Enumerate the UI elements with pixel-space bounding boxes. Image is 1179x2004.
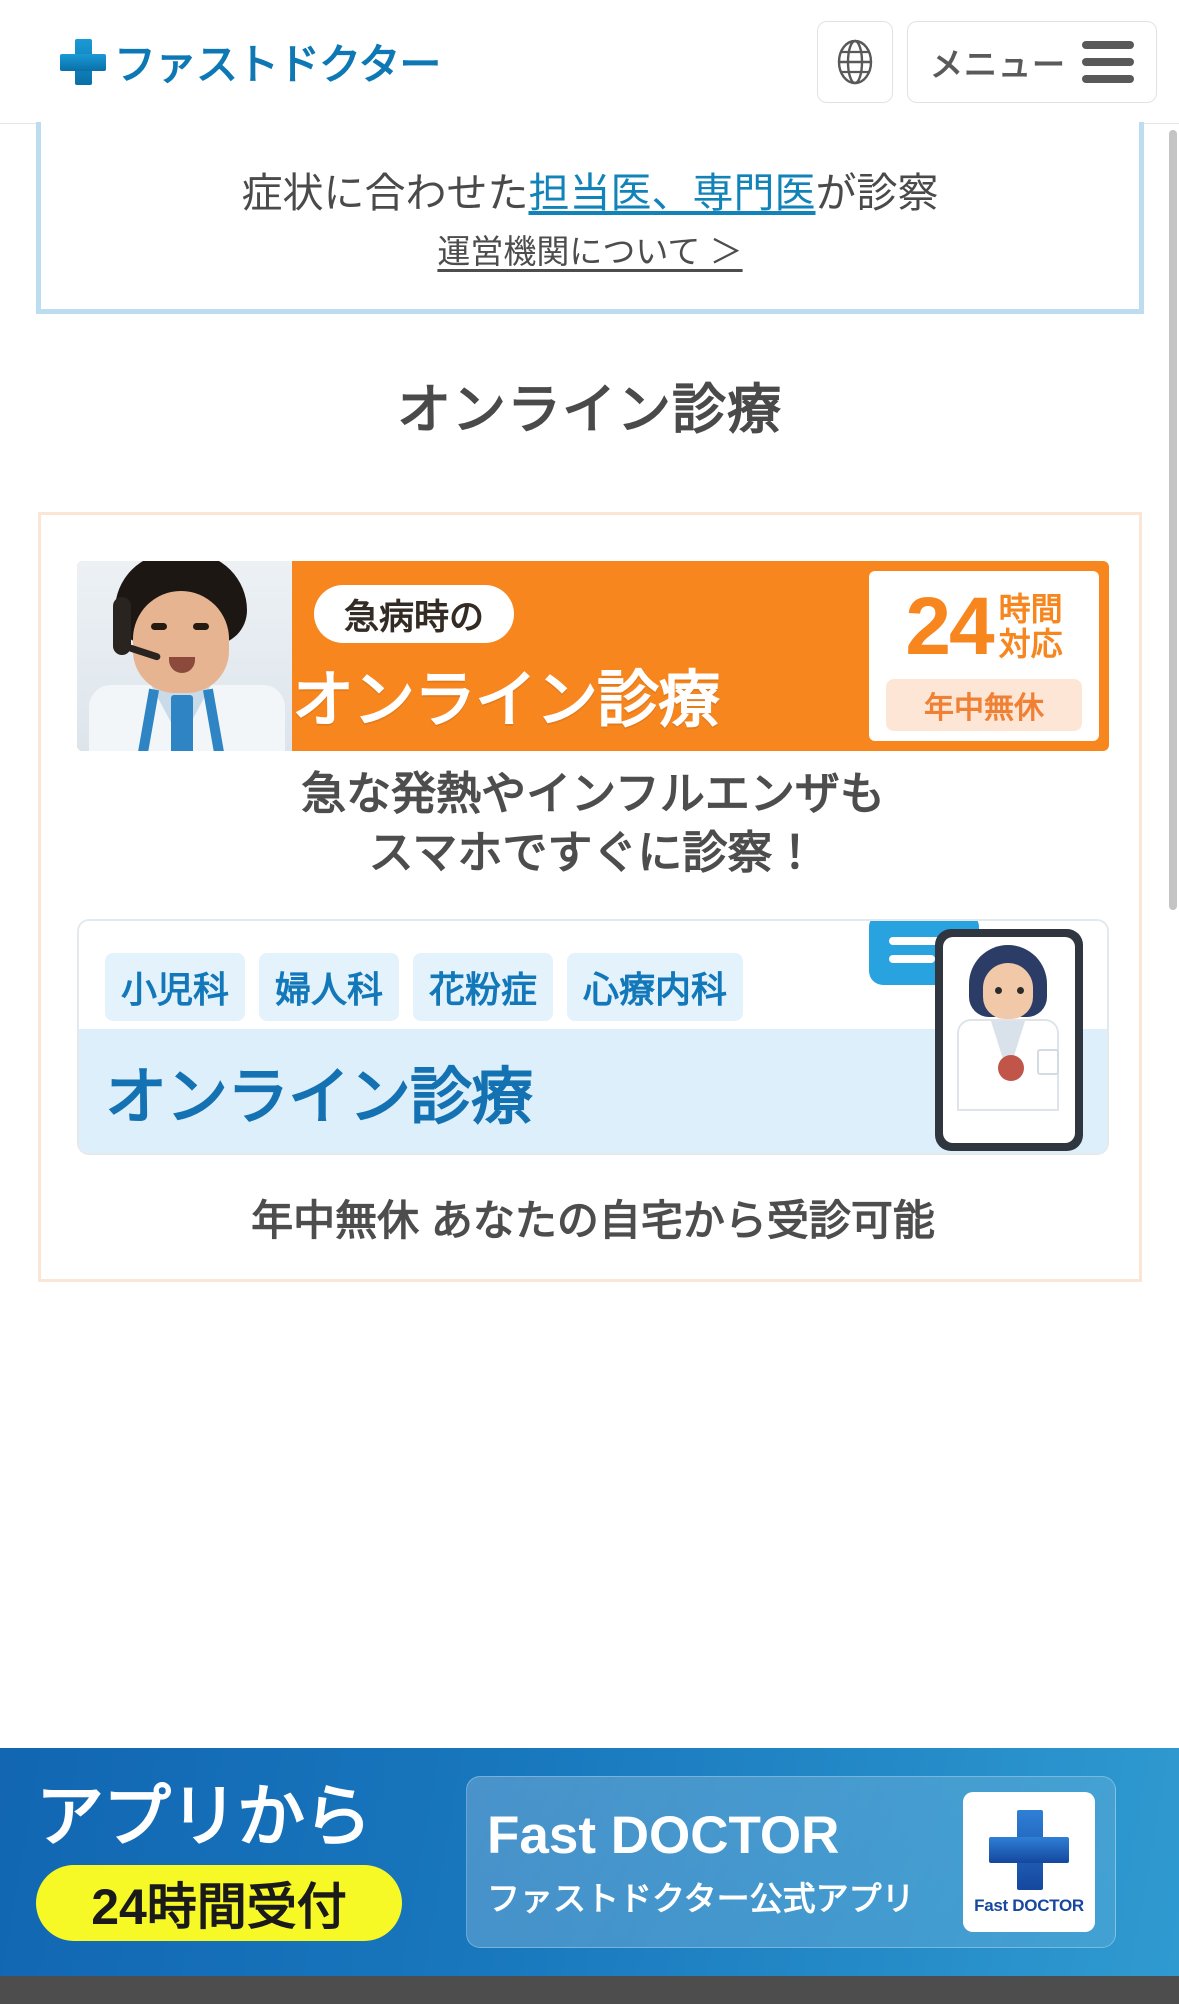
plus-cross-icon: [987, 1808, 1071, 1892]
page-root: ファストドクター メニュー 症状に合わせた担当医、専門医が診察 運営機関について…: [0, 0, 1179, 2004]
promo-headline: 急な発熱やインフルエンザも スマホですぐに診察！: [41, 765, 1145, 882]
orange-promo-banner: 急病時の オンライン診療 24 時間 対応 年中無休: [77, 561, 1109, 751]
promo-footer-text: 年中無休 あなたの自宅から受診可能: [41, 1187, 1145, 1248]
menu-button[interactable]: メニュー: [907, 21, 1157, 103]
globe-icon: [832, 39, 878, 85]
banner-text-block: 急病時の オンライン診療: [292, 561, 892, 751]
badge-year-round-tag: 年中無休: [886, 679, 1082, 731]
badge-unit-line2: 対応: [999, 626, 1063, 662]
app-banner-pill: 24時間受付: [36, 1865, 402, 1941]
operator-info-link[interactable]: 運営機関について ＞: [437, 225, 742, 273]
brand-logo[interactable]: ファストドクター: [58, 31, 440, 92]
app-download-banner[interactable]: アプリから 24時間受付 Fast DOCTOR ファストドクター公式アプリ F…: [0, 1748, 1179, 1976]
browser-bottom-bar: [0, 1976, 1179, 2004]
promo-headline-line2: スマホですぐに診察！: [41, 824, 1145, 883]
badge-unit: 時間 対応: [999, 592, 1063, 661]
section-title: オンライン診療: [0, 365, 1179, 444]
info-prefix-text: 症状に合わせた: [242, 170, 529, 216]
badge-number: 24: [905, 586, 992, 668]
banner-main-title: オンライン診療: [292, 649, 892, 739]
info-line-primary: 症状に合わせた担当医、専門医が診察: [242, 159, 939, 219]
online-consultation-card[interactable]: 小児科 婦人科 花粉症 心療内科 オンライン診療: [77, 919, 1109, 1155]
card-title: オンライン診療: [105, 1046, 532, 1136]
doctor-with-headset-photo: [77, 561, 292, 751]
specialty-tag[interactable]: 小児科: [105, 953, 245, 1021]
app-name: Fast DOCTOR: [487, 1805, 945, 1866]
hamburger-icon: [1082, 41, 1134, 83]
brand-name: ファストドクター: [114, 31, 440, 92]
specialty-tag-row: 小児科 婦人科 花粉症 心療内科: [105, 953, 743, 1021]
emergency-pill-label: 急病時の: [314, 585, 514, 643]
specialty-tag[interactable]: 心療内科: [567, 953, 743, 1021]
app-subtitle: ファストドクター公式アプリ: [487, 1872, 945, 1920]
online-consultation-promo-card[interactable]: 急病時の オンライン診療 24 時間 対応 年中無休 急な発熱やインフルエンザも…: [38, 512, 1142, 1282]
page-scrollbar[interactable]: [1169, 130, 1177, 910]
language-button[interactable]: [817, 21, 893, 103]
menu-label: メニュー: [930, 38, 1066, 86]
app-banner-headline: アプリから: [36, 1783, 450, 1851]
specialty-tag[interactable]: 花粉症: [413, 953, 553, 1021]
promo-headline-line1: 急な発熱やインフルエンザも: [41, 765, 1145, 824]
app-logo: Fast DOCTOR: [963, 1792, 1095, 1932]
app-logo-text: Fast DOCTOR: [974, 1896, 1084, 1916]
app-banner-left: アプリから 24時間受付: [0, 1783, 450, 1941]
badge-unit-line1: 時間: [999, 591, 1063, 627]
app-banner-card[interactable]: Fast DOCTOR ファストドクター公式アプリ Fast DOCTOR: [466, 1776, 1116, 1948]
female-doctor-on-phone-illustration: [935, 929, 1083, 1151]
info-suffix-text: が診察: [816, 170, 939, 216]
app-banner-text: Fast DOCTOR ファストドクター公式アプリ: [487, 1805, 945, 1920]
site-header: ファストドクター メニュー: [0, 0, 1179, 124]
operator-info-card: 症状に合わせた担当医、専門医が診察 運営機関について ＞: [36, 122, 1144, 314]
specialist-doctor-link[interactable]: 担当医、専門医: [529, 170, 816, 216]
plus-cross-icon: [58, 37, 108, 87]
header-actions: メニュー: [817, 21, 1157, 103]
specialty-tag[interactable]: 婦人科: [259, 953, 399, 1021]
availability-badge: 24 時間 対応 年中無休: [869, 571, 1099, 741]
